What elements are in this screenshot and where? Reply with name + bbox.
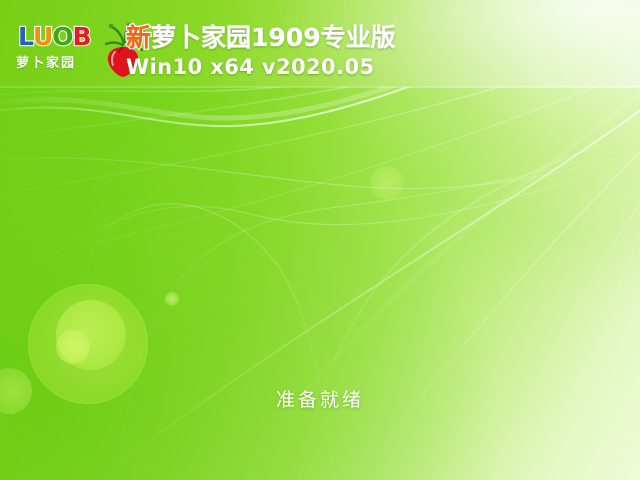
header-divider <box>0 86 640 88</box>
wordmark-letter-o: O <box>52 24 72 49</box>
product-subtitle: Win10 x64 v2020.05 <box>126 55 396 79</box>
wordmark-letter-l: L <box>18 24 33 49</box>
status-message: 准备就绪 <box>0 385 640 412</box>
bokeh-circle-right <box>370 166 404 200</box>
bokeh-dot <box>165 292 179 306</box>
bokeh-circle-small <box>56 330 90 364</box>
product-title: 新萝卜家园1909专业版 <box>126 24 396 52</box>
product-title-rest: 萝卜家园1909专业版 <box>151 24 396 52</box>
brand-wordmark: LUOB <box>18 24 91 49</box>
wordmark-letter-u: U <box>33 24 52 49</box>
bokeh-circle-medium <box>56 300 126 370</box>
header-title-block: 新萝卜家园1909专业版 Win10 x64 v2020.05 <box>126 24 396 79</box>
boot-splash-screen: LUOB 萝卜家园 新萝卜家园1909专业版 Win10 x64 v2020.0… <box>0 0 640 480</box>
brand-sub-label: 萝卜家园 <box>16 52 76 71</box>
product-title-highlight: 新 <box>126 24 151 52</box>
wordmark-letter-b: B <box>73 24 91 49</box>
